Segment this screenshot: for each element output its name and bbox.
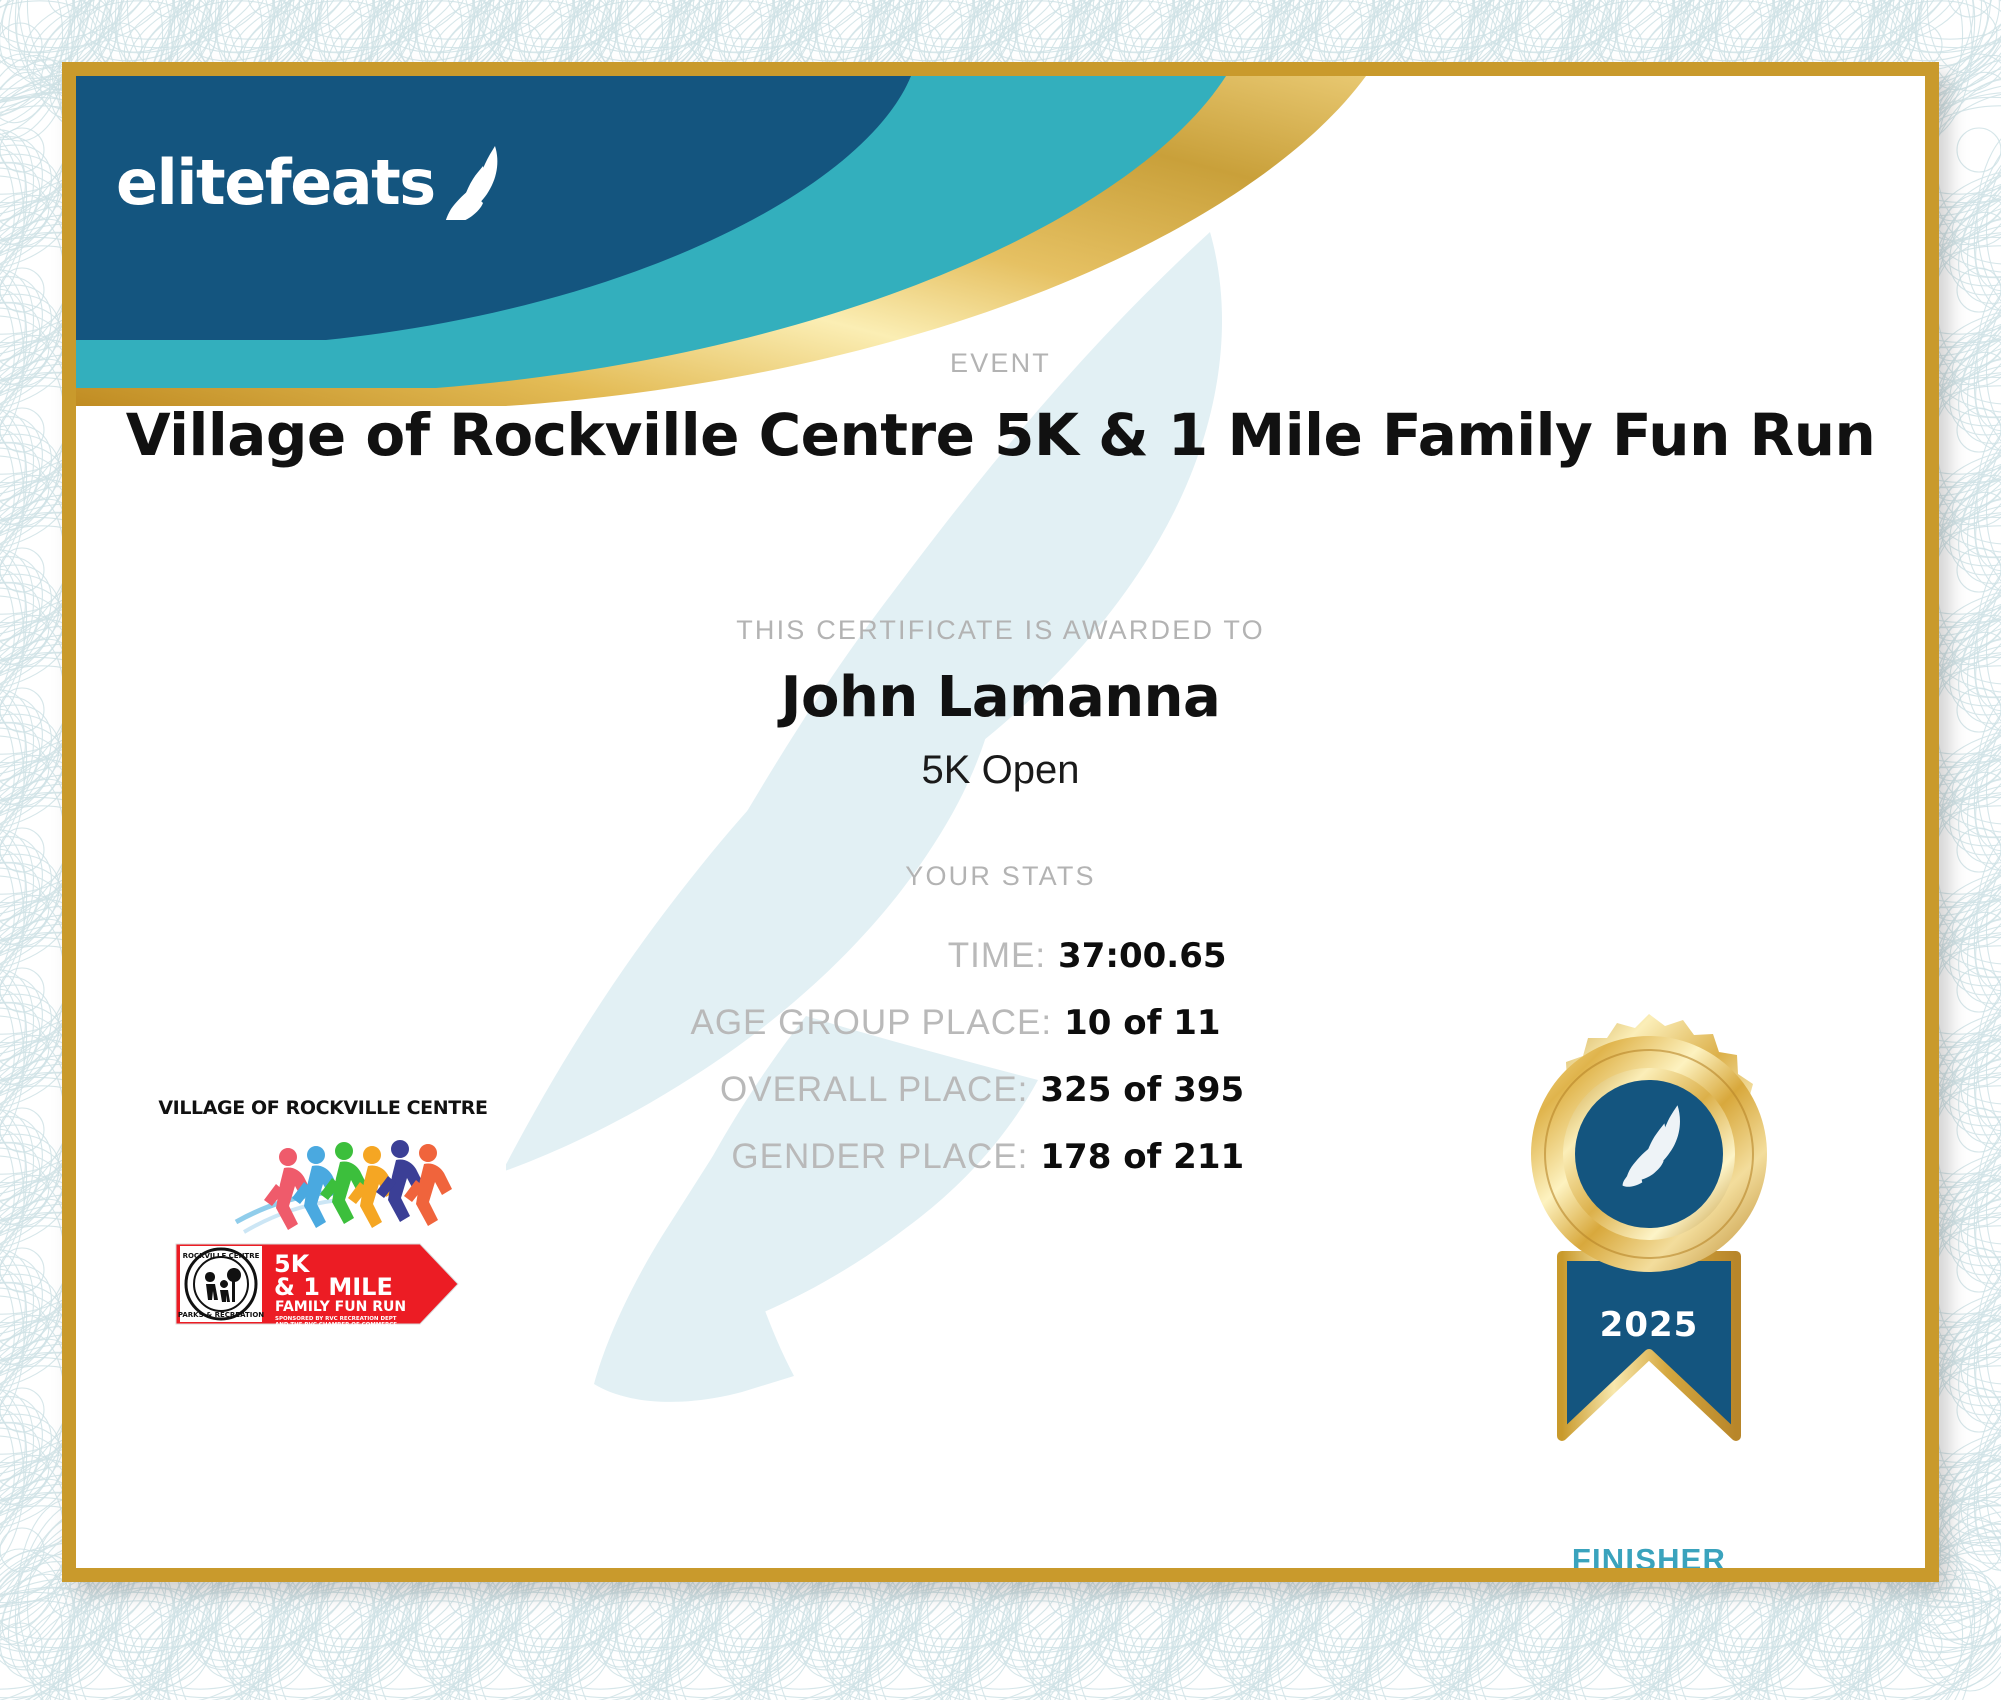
event-title: Village of Rockville Centre 5K & 1 Mile … (76, 401, 1925, 469)
medal-caption-line-2: CERTIFICATE (1474, 1578, 1824, 1582)
seal-text-bottom: PARKS & RECREATION (178, 1311, 264, 1319)
stat-label-age-group-place: AGE GROUP PLACE: (690, 1003, 1052, 1043)
awarded-to-label: THIS CERTIFICATE IS AWARDED TO (76, 615, 1925, 646)
stat-value-age-group-place: 10 of 11 (1064, 1003, 1220, 1043)
your-stats-label: YOUR STATS (76, 861, 1925, 892)
recipient-division: 5K Open (76, 748, 1925, 793)
banner-line-2: & 1 MILE (274, 1273, 393, 1301)
stat-value-gender-place: 178 of 211 (1040, 1137, 1244, 1177)
banner-line-3: FAMILY FUN RUN (275, 1299, 406, 1315)
medal-caption-line-1: FINISHER (1474, 1543, 1824, 1578)
stat-value-time: 37:00.65 (1058, 936, 1226, 976)
event-label: EVENT (76, 348, 1925, 379)
finisher-medal-badge: 2025 (1504, 1006, 1794, 1566)
medal-year: 2025 (1600, 1305, 1699, 1345)
stat-value-overall-place: 325 of 395 (1040, 1070, 1244, 1110)
stat-label-gender-place: GENDER PLACE: (667, 1137, 1029, 1177)
race-event-logo: VILLAGE OF ROCKVILLE CENTRE (158, 1092, 488, 1332)
certificate-body: EVENT Village of Rockville Centre 5K & 1… (76, 76, 1925, 1568)
certificate-card: elitefeats EVENT Village of Rockville Ce… (62, 62, 1939, 1582)
stat-label-time: TIME: (684, 936, 1046, 976)
banner-fine-2: AND THE RVC CHAMBER OF COMMERCE (275, 1322, 397, 1328)
stat-row-time: TIME: 37:00.65 (62, 936, 1880, 994)
recipient-name: John Lamanna (76, 665, 1925, 730)
medal-caption: FINISHER CERTIFICATE (1474, 1543, 1824, 1582)
race-logo-top-text: VILLAGE OF ROCKVILLE CENTRE (158, 1097, 487, 1119)
seal-text-top: ROCKVILLE CENTRE (183, 1252, 260, 1260)
stat-label-overall-place: OVERALL PLACE: (667, 1070, 1029, 1110)
